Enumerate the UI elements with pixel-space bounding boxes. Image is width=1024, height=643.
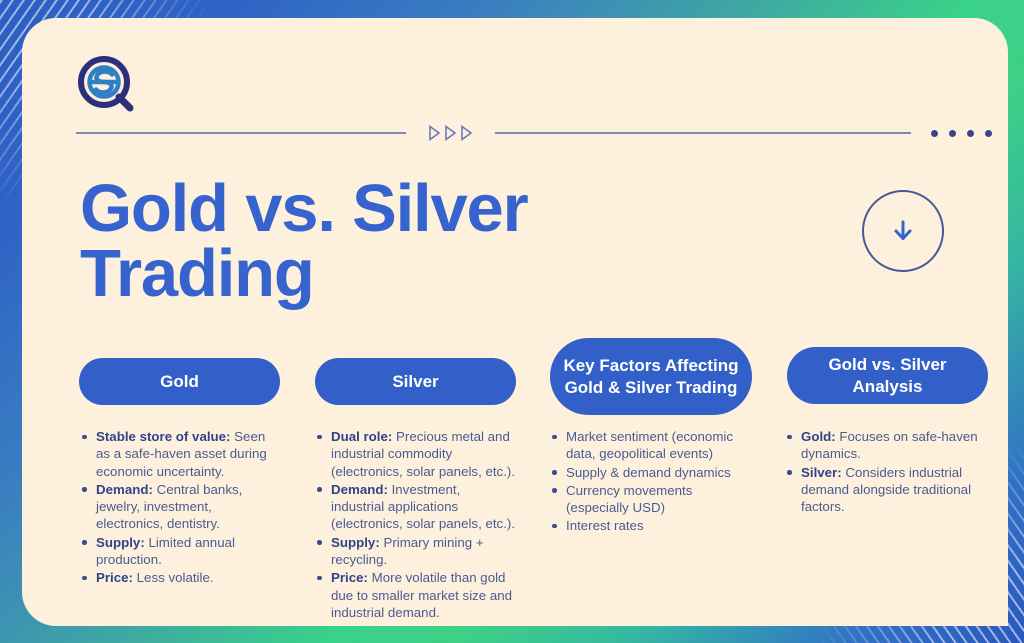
triple-chevron-right-icon	[428, 125, 473, 141]
column-analysis: Gold: Focuses on safe-haven dynamics.Sil…	[784, 428, 985, 622]
bullet-list: Market sentiment (economic data, geopoli…	[549, 428, 750, 535]
page-title-line-2: Trading	[80, 236, 314, 311]
bullet-lead: Price:	[96, 570, 133, 585]
bullet-lead: Supply:	[96, 535, 145, 550]
content-columns: Stable store of value: Seen as a safe-ha…	[79, 428, 999, 622]
bullet-text: Supply & demand dynamics	[566, 465, 731, 480]
bullet-item: Market sentiment (economic data, geopoli…	[549, 428, 750, 463]
column-gold: Stable store of value: Seen as a safe-ha…	[79, 428, 280, 622]
bullet-lead: Price:	[331, 570, 368, 585]
bullet-item: Dual role: Precious metal and industrial…	[314, 428, 515, 480]
column-silver: Dual role: Precious metal and industrial…	[314, 428, 515, 622]
bullet-lead: Demand:	[331, 482, 388, 497]
bullet-item: Currency movements (especially USD)	[549, 482, 750, 517]
page-title-line-1: Gold vs. Silver	[80, 171, 527, 246]
pill-silver[interactable]: Silver	[315, 358, 516, 405]
infographic-frame: Gold vs. Silver Trading Gold Silver Key …	[0, 0, 1024, 643]
bullet-text: Market sentiment (economic data, geopoli…	[566, 429, 733, 461]
download-arrow-icon[interactable]	[862, 190, 944, 272]
bullet-text: Interest rates	[566, 518, 644, 533]
bullet-lead: Dual role:	[331, 429, 392, 444]
pill-key-factors[interactable]: Key Factors Affecting Gold & Silver Trad…	[550, 338, 752, 415]
bullet-item: Stable store of value: Seen as a safe-ha…	[79, 428, 280, 480]
header-divider	[76, 122, 992, 144]
dot	[949, 130, 956, 137]
bullet-item: Supply: Limited annual production.	[79, 534, 280, 569]
bullet-lead: Demand:	[96, 482, 153, 497]
bullet-item: Price: More volatile than gold due to sm…	[314, 569, 515, 621]
decorative-dots	[931, 130, 992, 137]
sq-magnifier-logo-icon	[76, 54, 138, 116]
bullet-lead: Gold:	[801, 429, 836, 444]
bullet-lead: Silver:	[801, 465, 842, 480]
pill-gold[interactable]: Gold	[79, 358, 280, 405]
divider-line-left	[76, 132, 406, 134]
bullet-item: Supply & demand dynamics	[549, 464, 750, 481]
bullet-item: Supply: Primary mining + recycling.	[314, 534, 515, 569]
bullet-item: Silver: Considers industrial demand alon…	[784, 464, 985, 516]
bullet-item: Demand: Investment, industrial applicati…	[314, 481, 515, 533]
bullet-list: Dual role: Precious metal and industrial…	[314, 428, 515, 621]
content-card: Gold vs. Silver Trading Gold Silver Key …	[22, 18, 1008, 626]
dot	[985, 130, 992, 137]
column-key-factors: Market sentiment (economic data, geopoli…	[549, 428, 750, 622]
bullet-item: Interest rates	[549, 517, 750, 534]
bullet-text: Less volatile.	[133, 570, 214, 585]
dot	[931, 130, 938, 137]
bullet-item: Price: Less volatile.	[79, 569, 280, 586]
bullet-item: Gold: Focuses on safe-haven dynamics.	[784, 428, 985, 463]
bullet-item: Demand: Central banks, jewelry, investme…	[79, 481, 280, 533]
bullet-list: Stable store of value: Seen as a safe-ha…	[79, 428, 280, 587]
page-title: Gold vs. Silver Trading	[80, 176, 700, 306]
pill-analysis[interactable]: Gold vs. Silver Analysis	[787, 347, 988, 404]
category-pills: Gold Silver Key Factors Affecting Gold &…	[57, 338, 1003, 418]
bullet-text: Currency movements (especially USD)	[566, 483, 692, 515]
divider-line-right	[495, 132, 911, 134]
bullet-list: Gold: Focuses on safe-haven dynamics.Sil…	[784, 428, 985, 515]
bullet-lead: Stable store of value:	[96, 429, 230, 444]
bullet-lead: Supply:	[331, 535, 380, 550]
dot	[967, 130, 974, 137]
